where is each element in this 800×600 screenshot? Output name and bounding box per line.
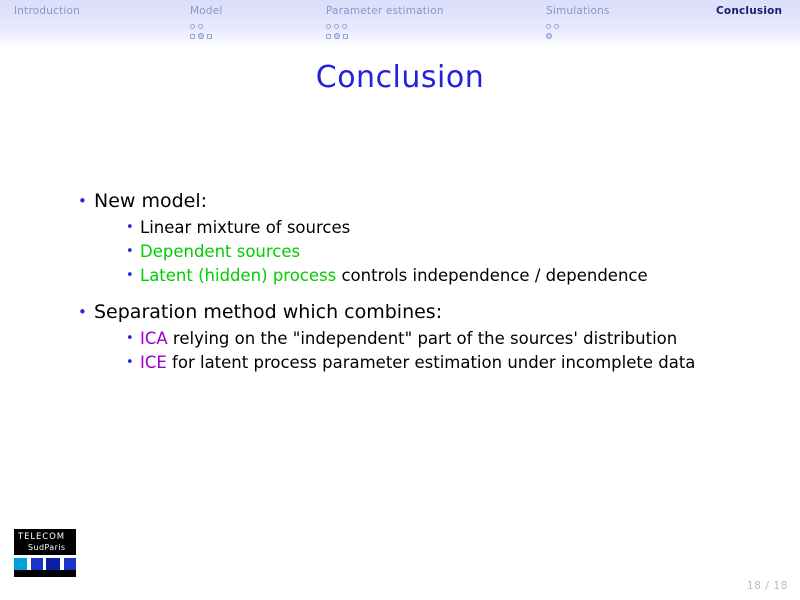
nav-section-label: Introduction bbox=[14, 5, 80, 18]
logo-wordmark-box: TELECOM SudParis bbox=[14, 529, 76, 555]
bullet-item-level1: •New model: bbox=[78, 188, 758, 214]
nav-miniframe-slide-icon[interactable] bbox=[343, 34, 348, 39]
bullet-text-span: controls independence / dependence bbox=[336, 266, 647, 285]
bullet-item-level2: •Dependent sources bbox=[126, 240, 758, 263]
bullet-item-level2: •ICE for latent process parameter estima… bbox=[126, 351, 758, 374]
bullet-text-span: Dependent sources bbox=[140, 242, 300, 261]
bullet-marker-icon: • bbox=[126, 264, 140, 287]
nav-miniframe-rows bbox=[546, 21, 610, 41]
bullet-text-level1: New model: bbox=[94, 188, 758, 214]
nav-section-simulations[interactable]: Simulations bbox=[546, 5, 610, 41]
nav-miniframe-row bbox=[546, 31, 610, 41]
nav-section-label: Parameter estimation bbox=[326, 5, 444, 18]
bullet-text-level1: Separation method which combines: bbox=[94, 299, 758, 325]
bullet-marker-icon: • bbox=[78, 299, 94, 325]
nav-miniframe-slide-icon[interactable] bbox=[326, 34, 331, 39]
bullet-marker-icon: • bbox=[126, 327, 140, 350]
nav-section-label: Model bbox=[190, 5, 223, 18]
nav-miniframe-slide-icon[interactable] bbox=[334, 24, 339, 29]
bullet-text-level2: Dependent sources bbox=[140, 240, 758, 263]
page-number: 18 / 18 bbox=[747, 580, 788, 592]
nav-miniframe-current-icon[interactable] bbox=[198, 33, 204, 39]
bullet-item-level2: •Latent (hidden) process controls indepe… bbox=[126, 264, 758, 287]
bullet-text-span: for latent process parameter estimation … bbox=[167, 353, 696, 372]
section-navigation-bar: IntroductionModelParameter estimationSim… bbox=[0, 0, 800, 48]
nav-miniframe-rows bbox=[190, 21, 223, 41]
nav-miniframe-slide-icon[interactable] bbox=[326, 24, 331, 29]
nav-miniframe-slide-icon[interactable] bbox=[546, 24, 551, 29]
nav-section-label: Simulations bbox=[546, 5, 610, 18]
nav-miniframe-row bbox=[546, 21, 610, 31]
nav-miniframe-slide-icon[interactable] bbox=[207, 34, 212, 39]
nav-miniframe-current-icon[interactable] bbox=[546, 33, 552, 39]
logo-color-bar bbox=[14, 558, 76, 577]
bullet-text-span: relying on the "independent" part of the… bbox=[168, 329, 678, 348]
bullet-item-level1: •Separation method which combines: bbox=[78, 299, 758, 325]
nav-miniframe-slide-icon[interactable] bbox=[190, 24, 195, 29]
nav-section-label: Conclusion bbox=[716, 5, 782, 18]
nav-section-parameter-estimation[interactable]: Parameter estimation bbox=[326, 5, 444, 41]
nav-miniframe-slide-icon[interactable] bbox=[342, 24, 347, 29]
logo-bar-mask bbox=[14, 570, 76, 577]
nav-miniframe-slide-icon[interactable] bbox=[190, 34, 195, 39]
nav-miniframe-row bbox=[326, 31, 444, 41]
bullet-marker-icon: • bbox=[78, 188, 94, 214]
bullet-marker-icon: • bbox=[126, 351, 140, 374]
nav-miniframe-slide-icon[interactable] bbox=[554, 24, 559, 29]
nav-miniframe-row bbox=[190, 31, 223, 41]
nav-miniframe-current-icon[interactable] bbox=[334, 33, 340, 39]
slide-content: •New model:•Linear mixture of sources•De… bbox=[78, 188, 758, 386]
bullet-item-level2: •ICA relying on the "independent" part o… bbox=[126, 327, 758, 350]
bullet-sublist: •Linear mixture of sources•Dependent sou… bbox=[126, 216, 758, 287]
bullet-text-span: ICA bbox=[140, 329, 168, 348]
bullet-text-level2: Linear mixture of sources bbox=[140, 216, 758, 239]
nav-miniframe-row bbox=[190, 21, 223, 31]
page-title: Conclusion bbox=[0, 60, 800, 95]
bullet-sublist: •ICA relying on the "independent" part o… bbox=[126, 327, 758, 374]
nav-miniframe-row bbox=[326, 21, 444, 31]
nav-section-model[interactable]: Model bbox=[190, 5, 223, 41]
bullet-text-span: ICE bbox=[140, 353, 167, 372]
bullet-text-level2: Latent (hidden) process controls indepen… bbox=[140, 264, 758, 287]
bullet-text-span: Latent (hidden) process bbox=[140, 266, 336, 285]
logo-line-telecom: TELECOM bbox=[18, 533, 65, 542]
nav-miniframe-rows bbox=[326, 21, 444, 41]
logo-line-sudparis: SudParis bbox=[28, 543, 65, 552]
bullet-text-span: Linear mixture of sources bbox=[140, 218, 350, 237]
bullet-text-level2: ICA relying on the "independent" part of… bbox=[140, 327, 758, 350]
nav-miniframe-slide-icon[interactable] bbox=[198, 24, 203, 29]
telecom-sudparis-logo: TELECOM SudParis bbox=[14, 529, 76, 577]
nav-section-conclusion[interactable]: Conclusion bbox=[716, 5, 782, 21]
bullet-text-level2: ICE for latent process parameter estimat… bbox=[140, 351, 758, 374]
bullet-marker-icon: • bbox=[126, 216, 140, 239]
bullet-item-level2: •Linear mixture of sources bbox=[126, 216, 758, 239]
bullet-marker-icon: • bbox=[126, 240, 140, 263]
nav-section-introduction[interactable]: Introduction bbox=[14, 5, 80, 21]
